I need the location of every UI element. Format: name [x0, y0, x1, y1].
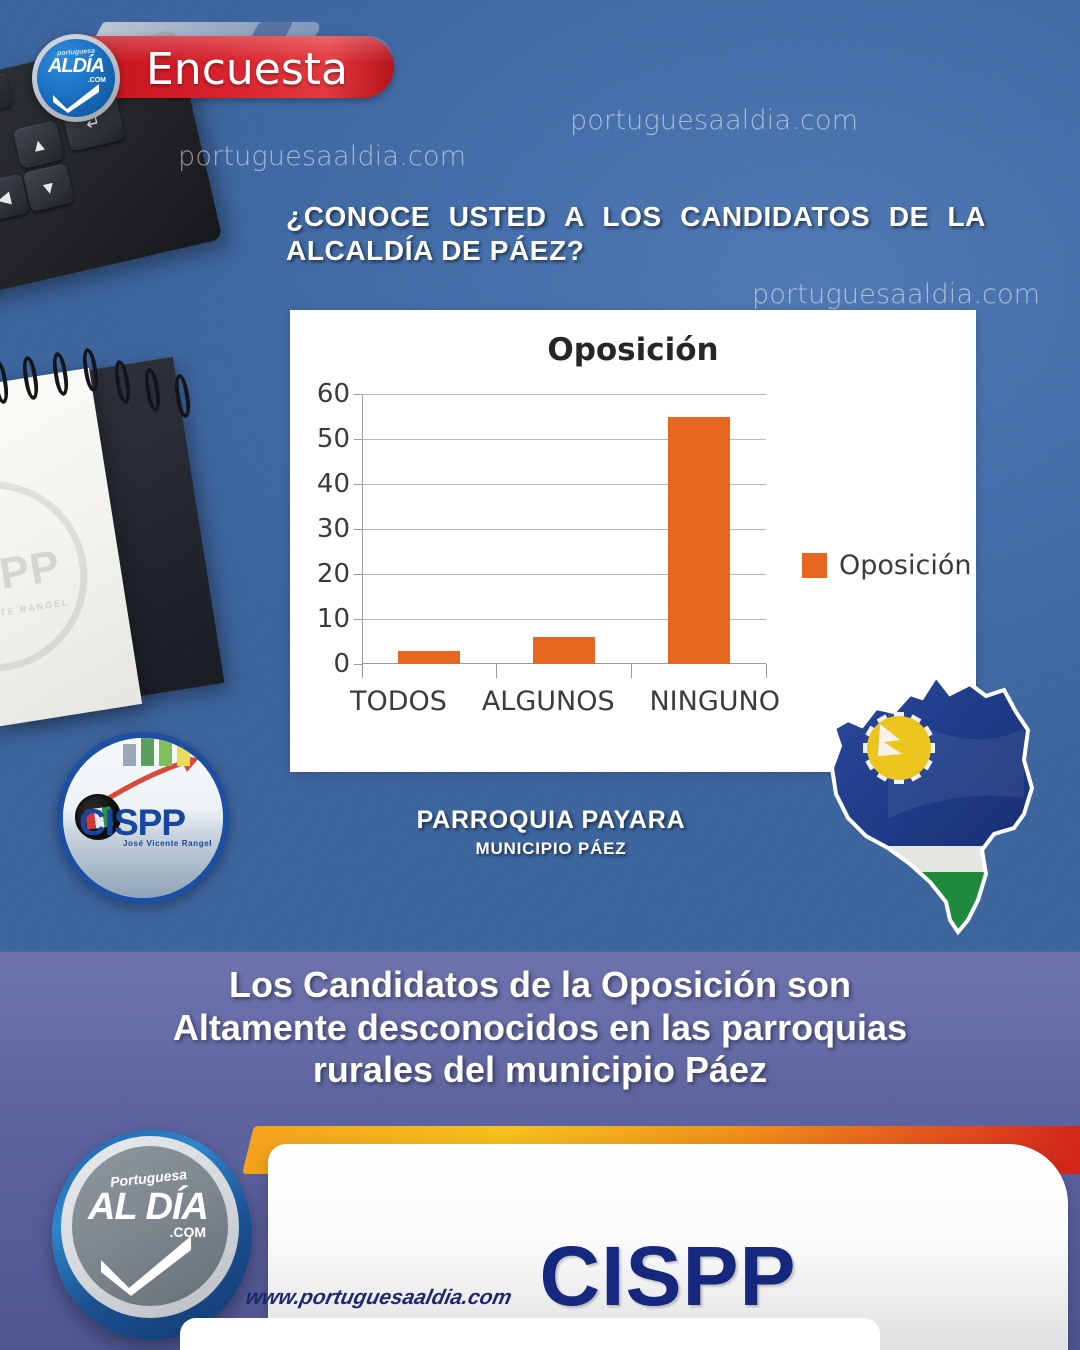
- logo-ring-inner: Portuguesa AL DÍA .COM: [72, 1146, 228, 1306]
- x-axis-stub: [496, 664, 497, 678]
- x-axis-label: NINGUNO: [649, 686, 780, 717]
- chart-legend: Oposición: [802, 550, 971, 581]
- footer-bar: CISPP www.portuguesaaldia.com Portuguesa…: [0, 1104, 1080, 1350]
- page-title: ¿CONOCE USTED A LOS CANDIDATOS DE LA ALC…: [286, 200, 986, 268]
- bottom-card: [180, 1318, 880, 1350]
- y-axis-tick-label: 20: [317, 559, 350, 589]
- poster-canvas: shift ▲ ▼ ◀ ↵ CISPP JOSÉ VICENTE RANGEL …: [0, 0, 1080, 1350]
- aldia-logo-main-text: ALDÍA: [48, 56, 104, 76]
- keyboard-key-up: ▲: [13, 120, 65, 169]
- cispp-logo-subtitle: José Vicente Rangel: [123, 839, 212, 848]
- y-axis-tickmark: [354, 394, 362, 395]
- aldia-logo-icon: portuguesa ALDÍA .COM: [32, 34, 120, 122]
- footer-brand-text: CISPP: [268, 1228, 1068, 1325]
- headline-line-3: rurales del municipio Páez: [313, 1049, 767, 1091]
- headline-line-1: Los Candidatos de la Oposición son: [229, 964, 851, 1006]
- chart-title: Oposición: [290, 332, 976, 368]
- legend-swatch-icon: [802, 553, 827, 578]
- portuguesa-state-map-icon: [818, 668, 1050, 940]
- x-axis-stub: [766, 664, 767, 678]
- x-axis-stub: [631, 664, 632, 678]
- notebook-watermark: CISPP JOSÉ VICENTE RANGEL: [0, 468, 101, 685]
- x-axis-label: TODOS: [350, 686, 447, 717]
- chart-bars: [362, 394, 766, 664]
- checkmark-icon: [98, 1234, 194, 1296]
- checkmark-icon: [51, 83, 101, 113]
- y-axis-tick-label: 30: [317, 514, 350, 544]
- x-axis-labels: TODOSALGUNOSNINGUNO: [350, 686, 780, 717]
- cispp-circular-logo: CISPP José Vicente Rangel: [57, 732, 229, 904]
- headline-line-2: Altamente desconocidos en las parroquias: [173, 1007, 907, 1049]
- watermark-text: portuguesaaldia.com: [570, 105, 858, 136]
- x-axis-label: ALGUNOS: [482, 686, 615, 717]
- cispp-logo-text: CISPP: [79, 804, 217, 841]
- y-axis-tickmark: [354, 439, 362, 440]
- bar-ninguno: [668, 417, 730, 665]
- x-axis-stub: [362, 664, 363, 678]
- question-line-1: ¿CONOCE USTED A LOS CANDIDATOS DE LA: [286, 200, 986, 234]
- y-axis-tick-label: 40: [317, 469, 350, 499]
- watermark-text: portuguesaaldia.com: [752, 279, 1040, 310]
- question-line-2: ALCALDÍA DE PÁEZ?: [286, 234, 986, 268]
- footer-url[interactable]: www.portuguesaaldia.com: [243, 1286, 513, 1310]
- y-axis-tick-label: 0: [333, 649, 350, 679]
- chart-plot-area: 0102030405060: [362, 394, 766, 664]
- y-axis-tickmark: [354, 484, 362, 485]
- notebook-watermark-subtitle: JOSÉ VICENTE RANGEL: [0, 594, 86, 631]
- y-axis-tickmark: [354, 664, 362, 665]
- keyboard-key-down: ▼: [23, 163, 75, 212]
- y-axis-tick-label: 50: [317, 424, 350, 454]
- y-axis-tick-label: 10: [317, 604, 350, 634]
- bar-algunos: [533, 637, 595, 664]
- y-axis-tickmark: [354, 574, 362, 575]
- badge-label: Encuesta: [146, 48, 348, 92]
- aldia-logo-inner: portuguesa ALDÍA .COM: [37, 39, 115, 117]
- y-axis-tickmark: [354, 619, 362, 620]
- y-axis-tick-label: 60: [317, 379, 350, 409]
- watermark-text: portuguesaaldia.com: [178, 141, 466, 172]
- legend-label: Oposición: [839, 550, 971, 581]
- headline-banner: Los Candidatos de la Oposición son Altam…: [0, 952, 1080, 1104]
- bar-todos: [398, 651, 460, 665]
- portuguesa-aldia-logo[interactable]: Portuguesa AL DÍA .COM: [52, 1130, 252, 1340]
- y-axis-tickmark: [354, 529, 362, 530]
- keyboard-key-shift: shift: [0, 72, 13, 127]
- logo-main-text: AL DÍA: [88, 1186, 208, 1229]
